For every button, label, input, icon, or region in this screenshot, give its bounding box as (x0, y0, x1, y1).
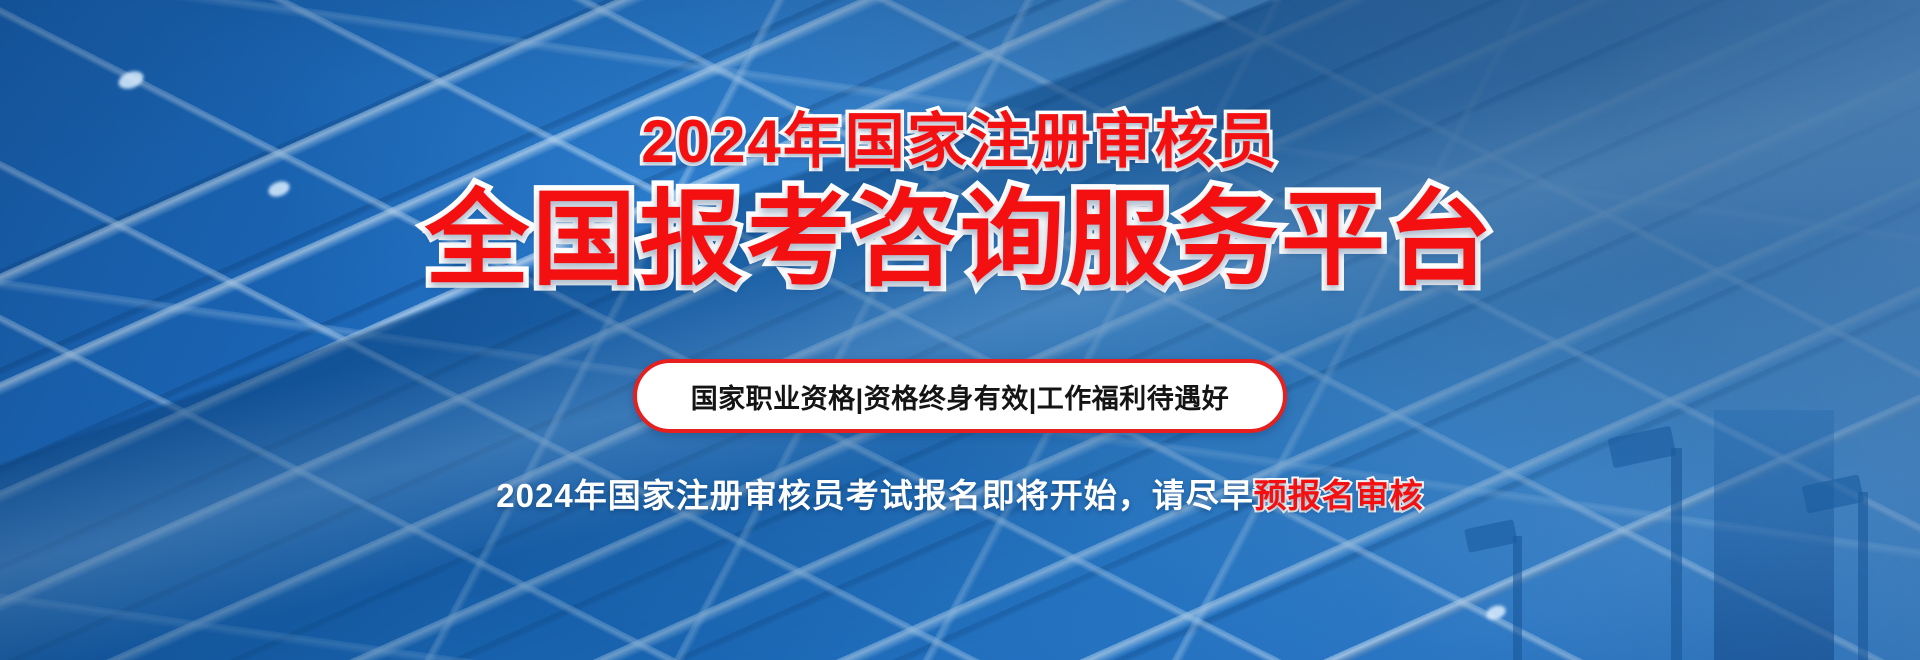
promo-banner: 2024年国家注册审核员 全国报考咨询服务平台 国家职业资格|资格终身有效|工作… (0, 0, 1920, 660)
headline-secondary: 全国报考咨询服务平台 (425, 186, 1495, 295)
banner-subline: 2024年国家注册审核员考试报名即将开始，请尽早预报名审核 (496, 469, 1423, 517)
subline-accent: 预报名审核 (1254, 477, 1424, 514)
feature-pill-label: 国家职业资格|资格终身有效|工作福利待遇好 (691, 377, 1230, 416)
subline-prefix: 2024年国家注册审核员考试报名即将开始，请尽早 (496, 477, 1253, 514)
banner-content: 2024年国家注册审核员 全国报考咨询服务平台 国家职业资格|资格终身有效|工作… (0, 0, 1920, 660)
headline-primary: 2024年国家注册审核员 (641, 112, 1278, 172)
feature-pill[interactable]: 国家职业资格|资格终身有效|工作福利待遇好 (633, 359, 1288, 433)
